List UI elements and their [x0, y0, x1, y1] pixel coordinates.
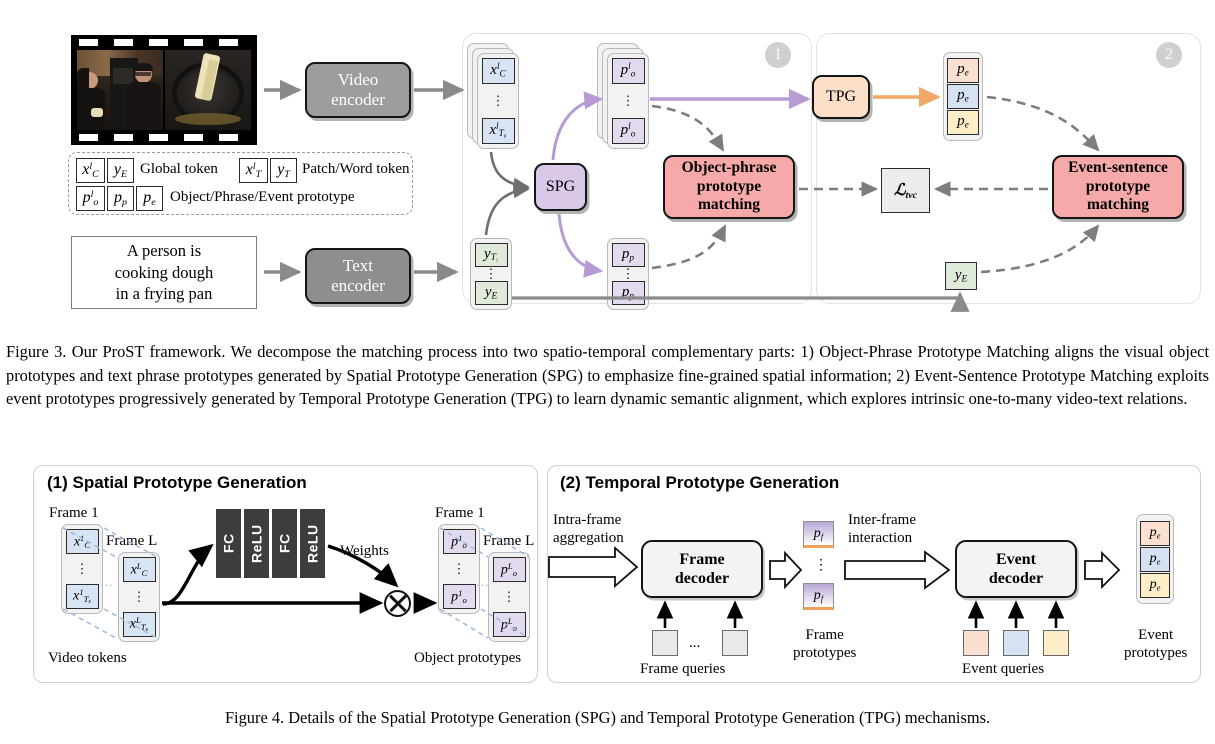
- figure3-connectors: [0, 0, 1215, 332]
- figure4-caption: Figure 4. Details of the Spatial Prototy…: [0, 706, 1215, 730]
- figure3-caption: Figure 3. Our ProST framework. We decomp…: [6, 340, 1209, 411]
- svg-text:…: …: [100, 574, 113, 589]
- svg-text:…: …: [476, 574, 489, 589]
- figure4-diagram: (1) Spatial Prototype Generation Frame 1…: [0, 458, 1215, 690]
- figure4-connectors: … …: [0, 458, 1215, 690]
- figure3-diagram: 1 2: [0, 0, 1215, 332]
